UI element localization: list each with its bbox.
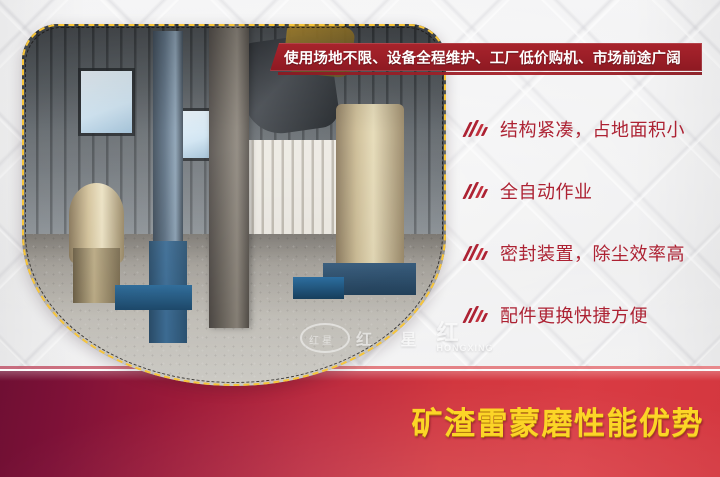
factory-photo	[22, 24, 446, 386]
double-slash-bullet-icon	[465, 119, 491, 139]
feature-label: 密封装置，除尘效率高	[500, 240, 685, 266]
feature-list: 结构紧凑，占地面积小 全自动作业 密封装置，除尘效率高 配件更换快捷方便	[465, 98, 711, 346]
feature-label: 结构紧凑，占地面积小	[500, 116, 685, 142]
headline-ribbon-text: 使用场地不限、设备全程维护、工厂低价购机、市场前途广阔	[270, 47, 681, 68]
promo-banner-canvas: 红星 红 星 红 HONGXING 使用场地不限、设备全程维护、工厂低价购机、市…	[0, 0, 720, 477]
headline-ribbon: 使用场地不限、设备全程维护、工厂低价购机、市场前途广阔	[270, 43, 702, 71]
feature-label: 全自动作业	[500, 178, 593, 204]
double-slash-bullet-icon	[465, 181, 491, 201]
photo-lighting-overlay	[22, 24, 446, 386]
feature-item: 结构紧凑，占地面积小	[465, 98, 711, 160]
factory-photo-image	[22, 24, 446, 386]
feature-item: 全自动作业	[465, 160, 711, 222]
feature-item: 配件更换快捷方便	[465, 284, 711, 346]
double-slash-bullet-icon	[465, 305, 491, 325]
promo-title: 矿渣雷蒙磨性能优势	[412, 398, 705, 443]
feature-item: 密封装置，除尘效率高	[465, 222, 711, 284]
headline-ribbon-underline	[278, 72, 702, 75]
double-slash-bullet-icon	[465, 243, 491, 263]
feature-label: 配件更换快捷方便	[500, 302, 648, 328]
